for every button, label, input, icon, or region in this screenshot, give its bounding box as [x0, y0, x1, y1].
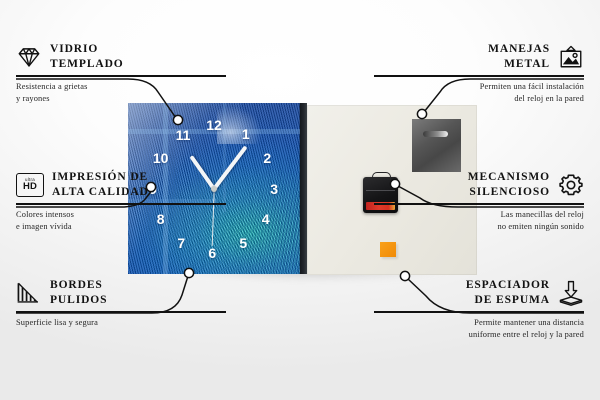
callout-title-line2: DE ESPUMA [474, 294, 550, 306]
callout-mecanismo-silencioso[interactable]: MECANISMO SILENCIOSO Las manecillas del … [374, 170, 584, 233]
callout-rule [374, 311, 584, 313]
clock-numeral-3: 3 [270, 182, 278, 196]
callout-desc-line2: y rayones [16, 94, 50, 103]
diamond-icon [16, 44, 42, 70]
callout-rule [16, 311, 226, 313]
foam-spacer [380, 242, 396, 257]
callout-desc-line1: Las manecillas del reloj [501, 210, 584, 219]
callout-desc-line2: uniforme entre el reloj y la pared [469, 330, 584, 339]
callout-title: IMPRESIÓN DE ALTA CALIDAD [52, 170, 149, 199]
callout-title-line1: VIDRIO [50, 43, 98, 55]
callout-desc-line2: no emiten ningún sonido [498, 222, 585, 231]
hanger-slot [423, 131, 448, 137]
callout-description: Colores intensos e imagen vívida [16, 209, 226, 233]
callout-title-line1: BORDES [50, 279, 103, 291]
framed-picture-hanging-icon [558, 44, 584, 70]
callout-description: Resistencia a grietas y rayones [16, 81, 226, 105]
clock-numeral-11: 11 [176, 128, 191, 142]
glass-glint [217, 106, 262, 144]
callout-header: ultra HD IMPRESIÓN DE ALTA CALIDAD [16, 170, 226, 199]
arrow-down-onto-pad-icon [558, 280, 584, 306]
callout-description: Superficie lisa y segura [16, 317, 226, 329]
ultra-hd-icon: ultra HD [16, 173, 44, 197]
callout-title-line1: IMPRESIÓN DE [52, 171, 148, 183]
callout-title-line1: MECANISMO [468, 171, 550, 183]
clock-numeral-5: 5 [239, 236, 247, 250]
callout-title-line2: METAL [504, 58, 550, 70]
callout-manejas-metal[interactable]: MANEJAS METAL Permiten una fácil instala… [374, 42, 584, 105]
clock-numeral-4: 4 [262, 212, 270, 226]
polished-edge-icon [16, 280, 42, 306]
callout-title-line2: PULIDOS [50, 294, 107, 306]
callout-header: BORDES PULIDOS [16, 278, 226, 307]
callout-description: Permiten una fácil instalación del reloj… [374, 81, 584, 105]
callout-title: ESPACIADOR DE ESPUMA [466, 278, 550, 307]
callout-rule [374, 75, 584, 77]
callout-title-line1: MANEJAS [488, 43, 550, 55]
metal-hanger-plate [412, 119, 461, 172]
callout-desc-line2: e imagen vívida [16, 222, 72, 231]
callout-desc-line1: Resistencia a grietas [16, 82, 88, 91]
callout-header: ESPACIADOR DE ESPUMA [374, 278, 584, 307]
callout-desc-line1: Permite mantener una distancia [474, 318, 584, 327]
callout-desc-line1: Colores intensos [16, 210, 74, 219]
callout-description: Las manecillas del reloj no emiten ningú… [374, 209, 584, 233]
callout-title-line1: ESPACIADOR [466, 279, 550, 291]
callout-rule [16, 75, 226, 77]
clock-numeral-7: 7 [177, 236, 185, 250]
callout-header: VIDRIO TEMPLADO [16, 42, 226, 71]
callout-title: MANEJAS METAL [488, 42, 550, 71]
callout-title: MECANISMO SILENCIOSO [468, 170, 550, 199]
callout-impresion-alta-calidad[interactable]: ultra HD IMPRESIÓN DE ALTA CALIDAD Color… [16, 170, 226, 233]
callout-title: BORDES PULIDOS [50, 278, 107, 307]
clock-numeral-12: 12 [206, 118, 222, 132]
callout-vidrio-templado[interactable]: VIDRIO TEMPLADO Resistencia a grietas y … [16, 42, 226, 105]
callout-rule [374, 203, 584, 205]
infographic-canvas: 12 1 2 3 4 5 6 7 8 9 10 11 [0, 0, 600, 400]
clock-numeral-10: 10 [153, 151, 169, 165]
clock-numeral-1: 1 [242, 127, 250, 141]
ultra-hd-icon-big-text: HD [23, 182, 37, 192]
clock-numeral-2: 2 [263, 151, 271, 165]
callout-bordes-pulidos[interactable]: BORDES PULIDOS Superficie lisa y segura [16, 278, 226, 329]
clock-numeral-6: 6 [208, 246, 216, 260]
clock-side-edge [300, 103, 307, 274]
callout-description: Permite mantener una distancia uniforme … [374, 317, 584, 341]
callout-header: MECANISMO SILENCIOSO [374, 170, 584, 199]
callout-desc-line1: Permiten una fácil instalación [480, 82, 584, 91]
callout-title-line2: ALTA CALIDAD [52, 186, 149, 198]
callout-title: VIDRIO TEMPLADO [50, 42, 124, 71]
callout-espaciador-de-espuma[interactable]: ESPACIADOR DE ESPUMA Permite mantener un… [374, 278, 584, 341]
callout-header: MANEJAS METAL [374, 42, 584, 71]
callout-title-line2: TEMPLADO [50, 58, 124, 70]
callout-title-line2: SILENCIOSO [469, 186, 550, 198]
gear-icon [558, 172, 584, 198]
callout-rule [16, 203, 226, 205]
callout-desc-line2: del reloj en la pared [514, 94, 584, 103]
callout-desc-line1: Superficie lisa y segura [16, 318, 98, 327]
